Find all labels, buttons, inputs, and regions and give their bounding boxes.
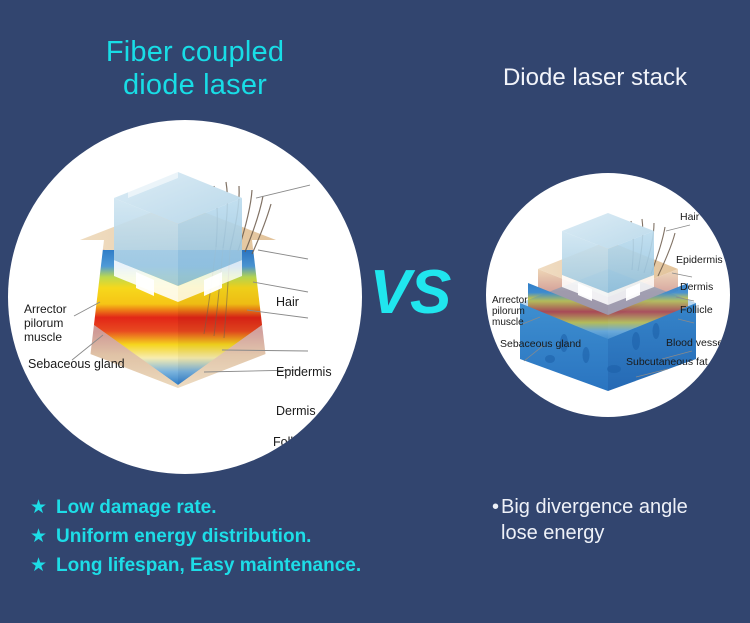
left-benefits-list: ★ Low damage rate. ★ Uniform energy dist… bbox=[30, 496, 361, 583]
left-label-arrector-pilorum-muscle: Arrector pilorum muscle bbox=[24, 302, 67, 344]
arrector-line2: pilorum bbox=[492, 306, 528, 317]
list-item: ★ Long lifespan, Easy maintenance. bbox=[30, 554, 361, 578]
dot-bullet-icon: • bbox=[492, 494, 501, 520]
drawback-text-line2: lose energy bbox=[492, 520, 742, 546]
arrector-line1: Arrector bbox=[492, 295, 528, 306]
right-label-arrector-pilorum-muscle: Arrector pilorum muscle bbox=[492, 295, 528, 328]
left-product-title-line2: diode laser bbox=[40, 69, 350, 102]
arrector-line3: muscle bbox=[24, 330, 67, 344]
arrector-line1: Arrector bbox=[24, 302, 67, 316]
list-item: ★ Uniform energy distribution. bbox=[30, 525, 361, 549]
left-label-hair: Hair bbox=[276, 295, 299, 309]
arrector-line3: muscle bbox=[492, 317, 528, 328]
right-label-blood-vessels: Blood vessels bbox=[666, 337, 730, 349]
benefit-text: Long lifespan, Easy maintenance. bbox=[56, 554, 361, 578]
right-diagram-circle: Hair Epidermis Dermis Follicle Blood ves… bbox=[486, 173, 730, 417]
left-label-epidermis: Epidermis bbox=[276, 365, 332, 379]
left-skin-cross-section bbox=[8, 120, 362, 474]
right-label-sebaceous-gland: Sebaceous gland bbox=[500, 338, 581, 350]
left-product-title: Fiber coupled diode laser bbox=[40, 36, 350, 102]
star-icon: ★ bbox=[30, 496, 56, 520]
laser-applicator-block bbox=[562, 213, 654, 305]
star-icon: ★ bbox=[30, 525, 56, 549]
drawback-text-line1: Big divergence angle bbox=[501, 494, 688, 520]
left-label-follicle: Follicle bbox=[273, 435, 312, 449]
laser-applicator-block bbox=[114, 170, 242, 302]
benefit-text: Uniform energy distribution. bbox=[56, 525, 311, 549]
left-label-sebaceous-gland: Sebaceous gland bbox=[28, 357, 125, 371]
right-drawbacks-list: • Big divergence angle lose energy bbox=[492, 494, 742, 546]
right-label-hair: Hair bbox=[680, 211, 699, 223]
benefit-text: Low damage rate. bbox=[56, 496, 217, 520]
right-label-epidermis: Epidermis bbox=[676, 254, 723, 266]
star-icon: ★ bbox=[30, 554, 56, 578]
left-diagram-circle: Hair Epidermis Dermis Follicle Blood ves… bbox=[8, 120, 362, 474]
list-item: ★ Low damage rate. bbox=[30, 496, 361, 520]
right-label-follicle: Follicle bbox=[680, 304, 713, 316]
vs-badge: VS bbox=[360, 262, 460, 324]
left-product-title-line1: Fiber coupled bbox=[40, 36, 350, 69]
right-label-subcutaneous-fat: Subcutaneous fat bbox=[626, 356, 708, 368]
arrector-line2: pilorum bbox=[24, 316, 67, 330]
right-product-title: Diode laser stack bbox=[440, 64, 750, 92]
poster-canvas: Fiber coupled diode laser Diode laser st… bbox=[0, 0, 750, 623]
right-label-dermis: Dermis bbox=[680, 281, 713, 293]
left-label-dermis: Dermis bbox=[276, 404, 316, 418]
list-item: • Big divergence angle bbox=[492, 494, 742, 520]
